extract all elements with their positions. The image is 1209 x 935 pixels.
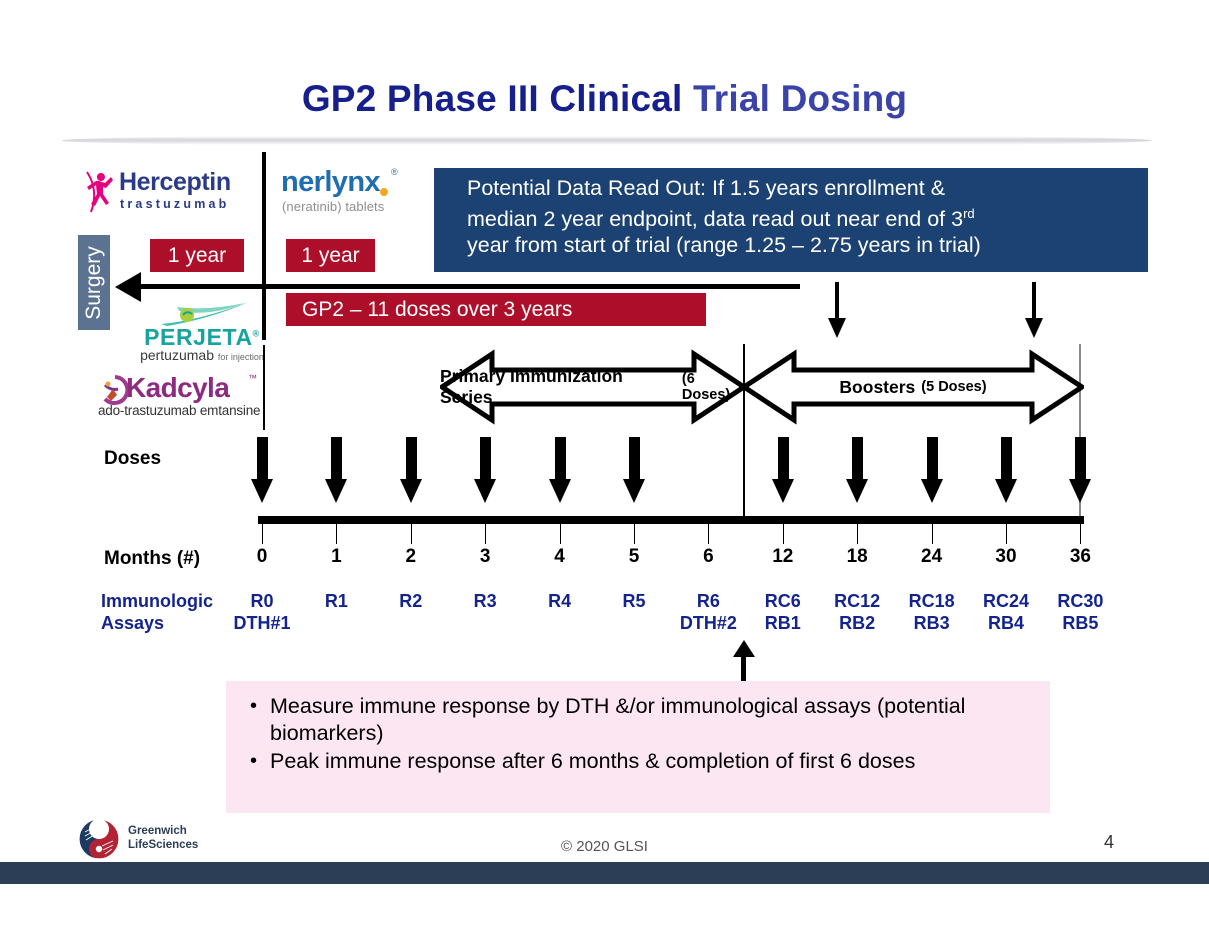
logo-nerlynx-generic: (neratinib) tablets: [282, 199, 384, 214]
band-boosters: Boosters (5 Doses): [742, 348, 1084, 426]
assay-column: RC18RB3: [897, 590, 967, 634]
assay-column: RC12RB2: [822, 590, 892, 634]
assay-code-primary: R2: [376, 590, 446, 612]
divider-vertical-left-bottom: [262, 287, 266, 340]
readout-line-3: year from start of trial (range 1.25 – 2…: [467, 232, 1148, 258]
assay-column: R2: [376, 590, 446, 612]
assay-column: R0DTH#1: [227, 590, 297, 634]
axis-tick-label: 36: [1050, 546, 1110, 568]
assay-code-secondary: RB4: [971, 612, 1041, 634]
page-title-part2: Trial Dosing: [693, 78, 907, 119]
assay-code-primary: R3: [450, 590, 520, 612]
logo-kadcyla: Kadcyla ™ ado-trastuzumab emtansine: [98, 375, 263, 427]
assay-code-secondary: RB5: [1045, 612, 1115, 634]
timeline-arrow-shaft: [135, 284, 800, 289]
axis-tick: [262, 524, 263, 544]
axis-tick: [783, 524, 784, 544]
dose-arrow-icon: [549, 437, 571, 505]
logo-nerlynx-name: nerlynx: [281, 166, 380, 199]
axis-title: Months (#): [104, 548, 200, 570]
footer-bar: [0, 862, 1209, 884]
readout-line-2: median 2 year endpoint, data read out ne…: [467, 201, 1148, 232]
chip-herceptin-duration: 1 year: [150, 239, 244, 272]
axis-tick: [1080, 524, 1081, 544]
logo-perjeta-generic: pertuzumab for injection: [122, 347, 282, 363]
readout-arrow-month30-icon: [1021, 282, 1047, 340]
assay-code-primary: RC24: [971, 590, 1041, 612]
axis-tick-label: 30: [976, 546, 1036, 568]
assay-code-secondary: RB1: [748, 612, 818, 634]
chip-gp2-banner: GP2 – 11 doses over 3 years: [286, 293, 706, 326]
callout-pointer-arrow-icon: [732, 640, 756, 682]
assay-column: R6DTH#2: [673, 590, 743, 634]
logo-perjeta-generic-text: pertuzumab: [140, 347, 214, 363]
logo-perjeta: PERJETA® pertuzumab for injection: [122, 302, 282, 364]
timeline-axis: [258, 516, 1084, 524]
assay-code-secondary: DTH#2: [673, 612, 743, 634]
assay-code-secondary: DTH#1: [227, 612, 297, 634]
assay-column: RC6RB1: [748, 590, 818, 634]
logo-perjeta-reg: ®: [253, 328, 260, 338]
dose-arrow-icon: [474, 437, 496, 505]
axis-tick: [932, 524, 933, 544]
readout-line-1: Potential Data Read Out: If 1.5 years en…: [467, 175, 1148, 201]
logo-herceptin-name: Herceptin: [119, 168, 231, 197]
logo-nerlynx-reg: ®: [391, 167, 398, 177]
herceptin-archer-icon: [85, 170, 115, 214]
readout-line-2-text: median 2 year endpoint, data read out ne…: [467, 207, 963, 231]
axis-tick-label: 5: [604, 546, 664, 568]
readout-line-2-sup: rd: [963, 206, 975, 221]
slide-canvas: GP2 Phase III Clinical Trial Dosing Surg…: [0, 0, 1209, 935]
assay-code-primary: R5: [599, 590, 669, 612]
assay-column: R1: [301, 590, 371, 612]
copyright-text: © 2020 GLSI: [0, 838, 1209, 855]
immune-response-callout: Measure immune response by DTH &/or immu…: [226, 681, 1050, 813]
assay-column: R4: [525, 590, 595, 612]
dose-arrow-icon: [623, 437, 645, 505]
timeline-arrow-head-icon: [115, 272, 141, 302]
assay-column: RC24RB4: [971, 590, 1041, 634]
axis-tick-label: 18: [827, 546, 887, 568]
dose-arrow-icon: [325, 437, 347, 505]
logo-kadcyla-generic: ado-trastuzumab emtansine: [98, 403, 263, 418]
axis-tick-label: 6: [678, 546, 738, 568]
divider-vertical-left-top: [262, 152, 266, 288]
dose-arrow-icon: [921, 437, 943, 505]
axis-tick: [1006, 524, 1007, 544]
axis-tick-label: 3: [455, 546, 515, 568]
assay-code-primary: R0: [227, 590, 297, 612]
axis-tick: [411, 524, 412, 544]
data-readout-callout: Potential Data Read Out: If 1.5 years en…: [434, 168, 1148, 272]
nerlynx-dot-icon: [380, 188, 388, 196]
axis-tick: [708, 524, 709, 544]
axis-tick-label: 2: [381, 546, 441, 568]
band-primary-immunization: Primary Immunization Series (6 Doses): [440, 348, 746, 426]
axis-tick: [560, 524, 561, 544]
page-title: GP2 Phase III Clinical Trial Dosing: [0, 78, 1209, 120]
dose-arrow-icon: [846, 437, 868, 505]
doses-label: Doses: [104, 448, 161, 470]
axis-tick: [857, 524, 858, 544]
logo-kadcyla-name: Kadcyla: [126, 372, 229, 404]
axis-tick-label: 24: [902, 546, 962, 568]
axis-tick: [336, 524, 337, 544]
assay-code-secondary: RB3: [897, 612, 967, 634]
axis-title-hash: (#): [177, 548, 200, 569]
readout-arrow-month18-icon: [824, 282, 850, 340]
callout-bullet: Peak immune response after 6 months & co…: [248, 748, 1030, 775]
assay-code-primary: RC6: [748, 590, 818, 612]
dose-arrow-icon: [400, 437, 422, 505]
assay-code-primary: R4: [525, 590, 595, 612]
logo-kadcyla-tm: ™: [248, 373, 257, 383]
callout-bullet: Measure immune response by DTH &/or immu…: [248, 693, 1030, 746]
assay-column: R5: [599, 590, 669, 612]
chip-nerlynx-duration: 1 year: [286, 239, 375, 272]
axis-tick-label: 1: [306, 546, 366, 568]
dose-arrow-icon: [772, 437, 794, 505]
assay-code-primary: RC18: [897, 590, 967, 612]
page-title-part1: GP2 Phase III Clinical: [302, 78, 693, 119]
logo-perjeta-generic-suffix: for injection: [218, 352, 264, 362]
assay-code-primary: R1: [301, 590, 371, 612]
logo-herceptin: Herceptin trastuzumab: [85, 168, 265, 220]
axis-tick-label: 4: [530, 546, 590, 568]
axis-tick-label: 12: [753, 546, 813, 568]
company-name-line1: Greenwich: [128, 824, 198, 838]
title-divider: [62, 136, 1152, 145]
axis-title-text: Months: [104, 548, 172, 569]
assay-column: R3: [450, 590, 520, 612]
assay-code-secondary: RB2: [822, 612, 892, 634]
assay-column: RC30RB5: [1045, 590, 1115, 634]
axis-tick-label: 0: [232, 546, 292, 568]
divider-vertical-kadcyla: [263, 345, 265, 430]
logo-nerlynx: nerlynx ® (neratinib) tablets: [281, 168, 416, 220]
surgery-marker: Surgery: [78, 235, 110, 330]
axis-tick: [485, 524, 486, 544]
dose-arrow-icon: [1069, 437, 1091, 505]
assay-code-primary: RC12: [822, 590, 892, 612]
logo-herceptin-generic: trastuzumab: [120, 197, 230, 211]
axis-tick: [634, 524, 635, 544]
dose-arrow-icon: [251, 437, 273, 505]
page-number: 4: [1104, 832, 1114, 853]
surgery-label: Surgery: [82, 246, 106, 320]
callout-bullet-list: Measure immune response by DTH &/or immu…: [248, 693, 1030, 775]
assay-code-primary: RC30: [1045, 590, 1115, 612]
assay-code-primary: R6: [673, 590, 743, 612]
dose-arrow-icon: [995, 437, 1017, 505]
